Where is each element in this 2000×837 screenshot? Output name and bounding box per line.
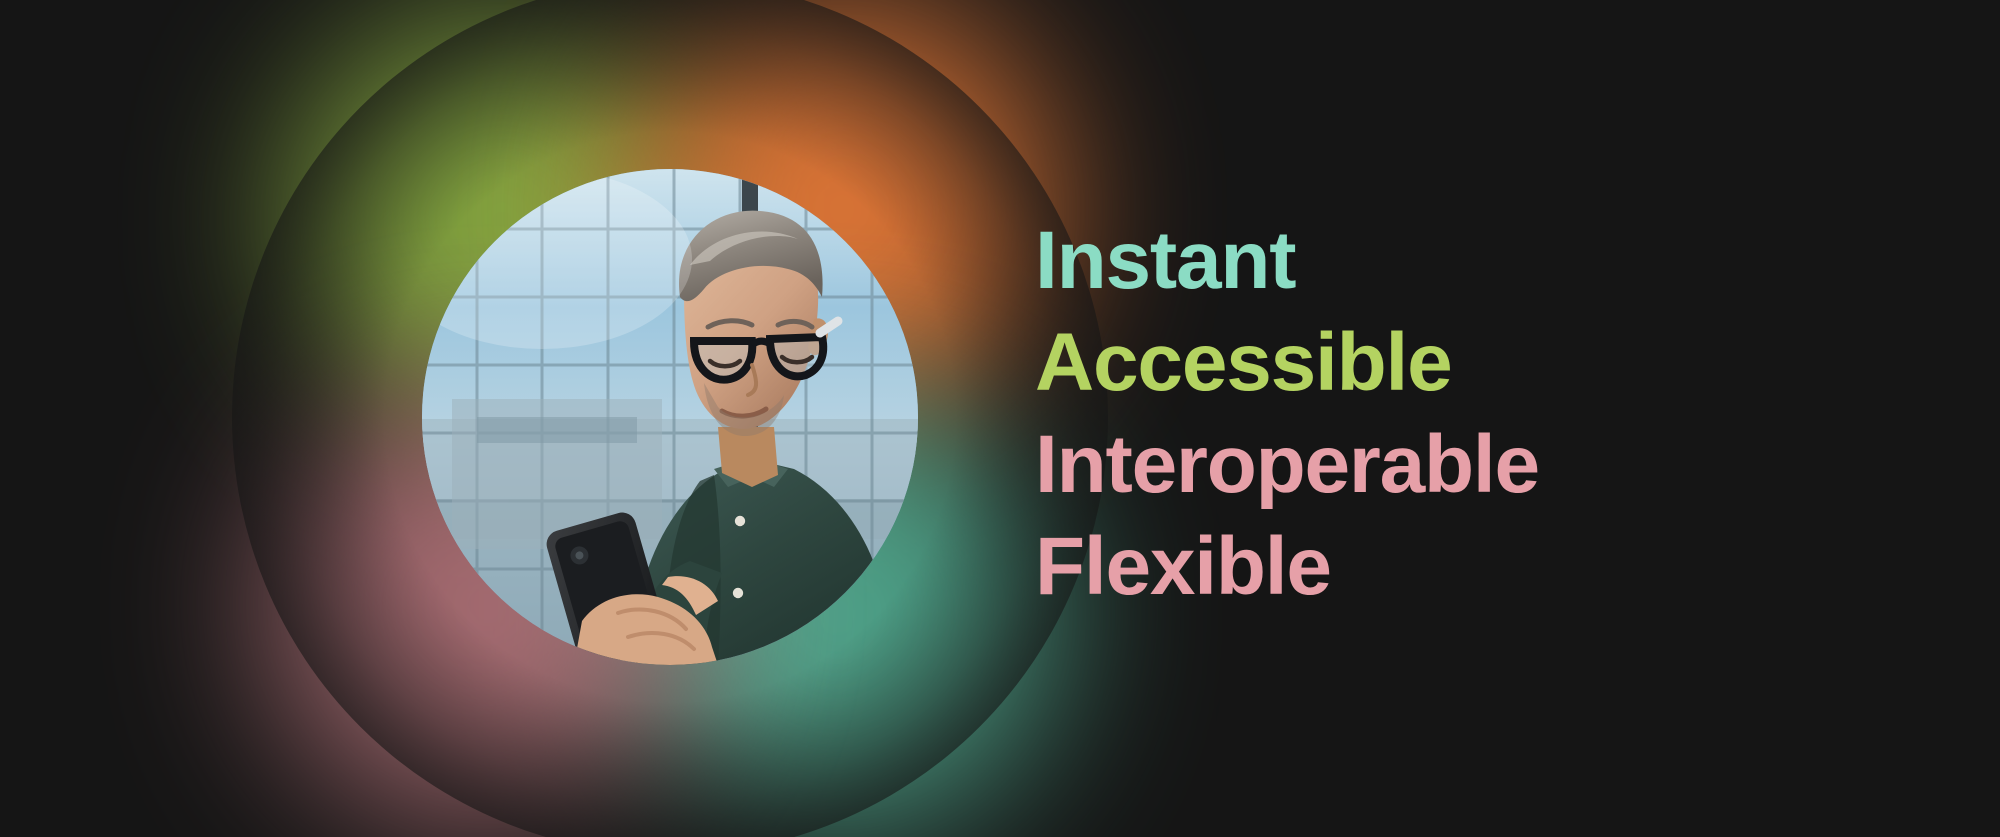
feature-word-instant: Instant (1035, 210, 1735, 312)
feature-word-interoperable: Interoperable (1035, 414, 1735, 516)
hero-banner: Instant Accessible Interoperable Flexibl… (0, 0, 2000, 837)
feature-word-accessible: Accessible (1035, 312, 1735, 414)
feature-word-list: Instant Accessible Interoperable Flexibl… (1035, 210, 1735, 618)
feature-word-flexible: Flexible (1035, 516, 1735, 618)
portrait-photo (422, 169, 918, 665)
portrait-block (422, 169, 918, 665)
